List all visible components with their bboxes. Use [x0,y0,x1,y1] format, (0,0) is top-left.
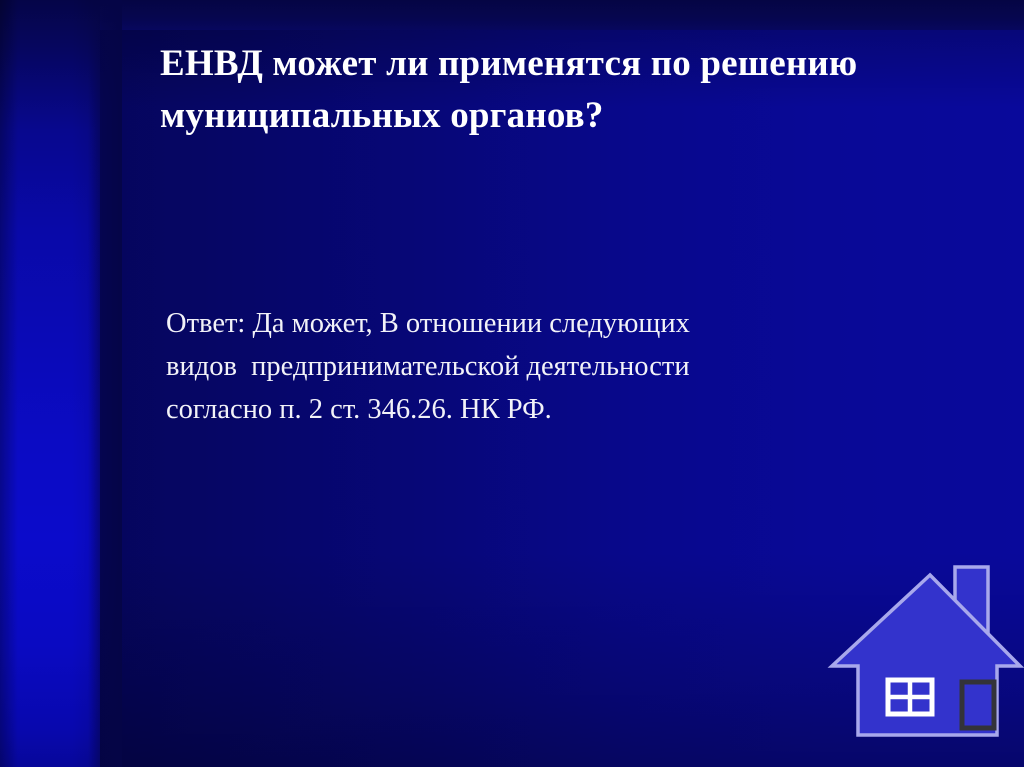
slide-body-text: Ответ: Да может, В отношении следующих в… [166,302,906,431]
slide-title: ЕНВД может ли применятся по решению муни… [160,38,1022,142]
slide-top-strip [0,0,1024,30]
left-accent-band-shading [0,0,100,767]
left-accent-band [0,0,100,767]
house-icon [824,556,1024,746]
presentation-slide: ЕНВД может ли применятся по решению муни… [0,0,1024,767]
left-accent-band-fade [88,0,122,767]
